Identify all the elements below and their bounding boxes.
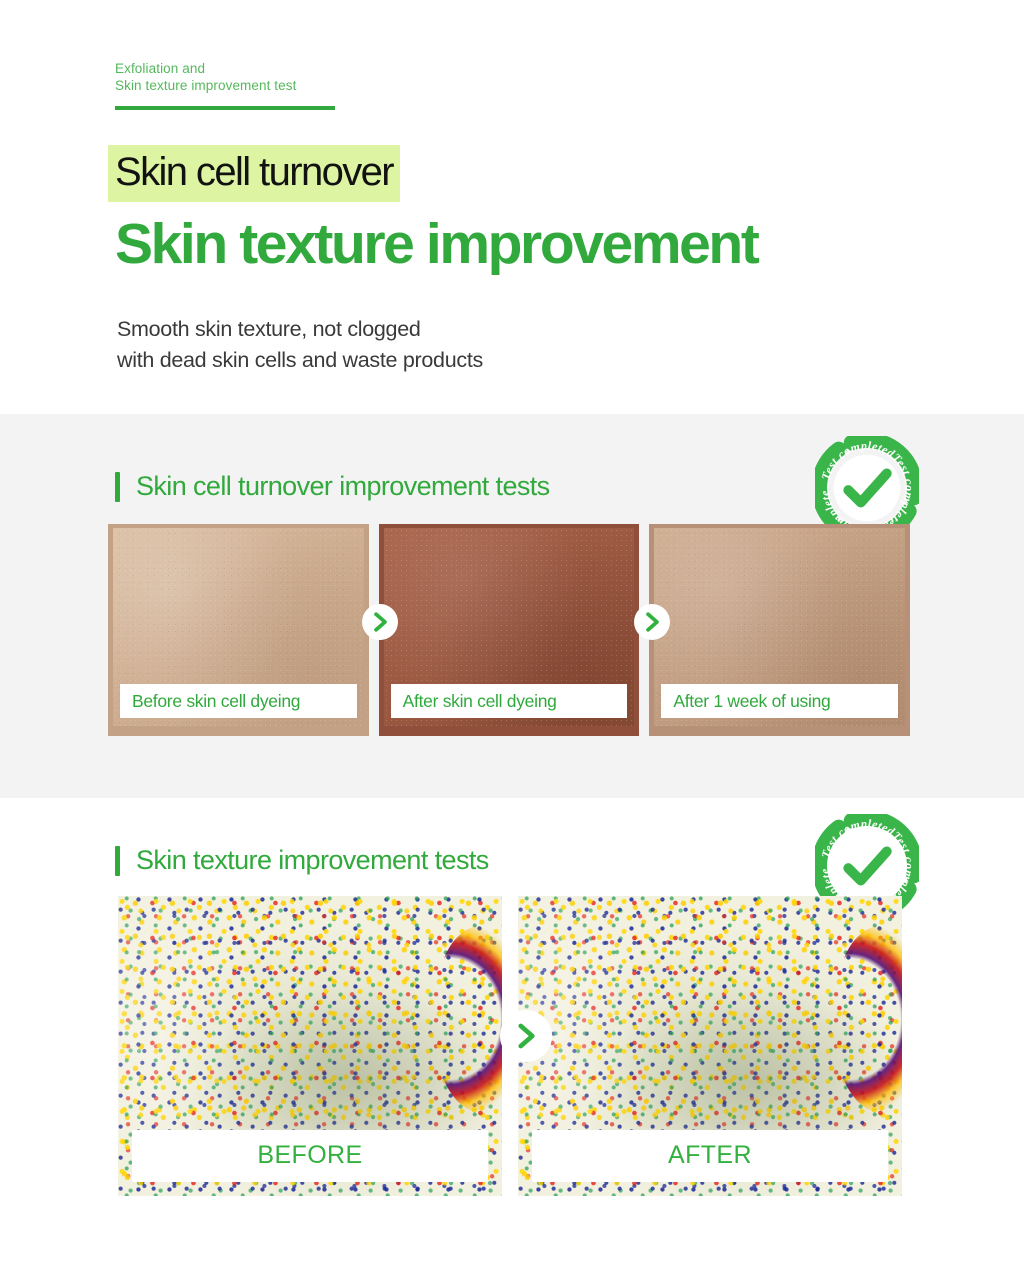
highlight-heading-wrap: Skin cell turnover — [108, 145, 1024, 202]
dye-panel-caption: After 1 week of using — [661, 684, 898, 718]
texture-panel-caption: AFTER — [532, 1130, 888, 1182]
dye-panel-caption: After skin cell dyeing — [391, 684, 628, 718]
texture-panel-caption: BEFORE — [132, 1130, 488, 1182]
eyebrow-line-1: Exfoliation and — [115, 60, 1024, 77]
texture-panel-row: BEFORE AFTER — [118, 896, 918, 1196]
chevron-right-icon — [634, 604, 670, 640]
accent-bar — [115, 846, 120, 876]
turnover-section-title: Skin cell turnover improvement tests — [136, 473, 550, 500]
dye-panel-row: Before skin cell dyeing After skin cell … — [108, 524, 920, 736]
skin-cell-turnover-section: Skin cell turnover improvement tests Tes… — [0, 414, 1024, 798]
subcopy-line-2: with dead skin cells and waste products — [117, 348, 483, 372]
turnover-section-header: Skin cell turnover improvement tests Tes… — [115, 472, 1024, 502]
texture-panel: BEFORE — [118, 896, 502, 1196]
highlight-heading: Skin cell turnover — [108, 145, 400, 202]
dye-panel: After 1 week of using — [649, 524, 910, 736]
hero-subcopy: Smooth skin texture, not clogged with de… — [117, 314, 1024, 376]
chevron-right-icon — [362, 604, 398, 640]
dye-panel-caption: Before skin cell dyeing — [120, 684, 357, 718]
hero-section: Exfoliation and Skin texture improvement… — [0, 0, 1024, 376]
texture-section-title: Skin texture improvement tests — [136, 847, 489, 874]
dye-panel: Before skin cell dyeing — [108, 524, 369, 736]
eyebrow-label: Exfoliation and Skin texture improvement… — [0, 60, 1024, 110]
page-title: Skin texture improvement — [115, 214, 1024, 276]
texture-panel: AFTER — [518, 896, 902, 1196]
skin-texture-section: Skin texture improvement tests Test comp… — [0, 798, 1024, 1196]
accent-bar — [115, 472, 120, 502]
subcopy-line-1: Smooth skin texture, not clogged — [117, 317, 421, 341]
texture-section-header: Skin texture improvement tests Test comp… — [115, 846, 1024, 876]
eyebrow-underline — [115, 106, 335, 110]
chevron-right-icon — [500, 1010, 552, 1062]
dye-panel: After skin cell dyeing — [379, 524, 640, 736]
eyebrow-line-2: Skin texture improvement test — [115, 77, 1024, 94]
